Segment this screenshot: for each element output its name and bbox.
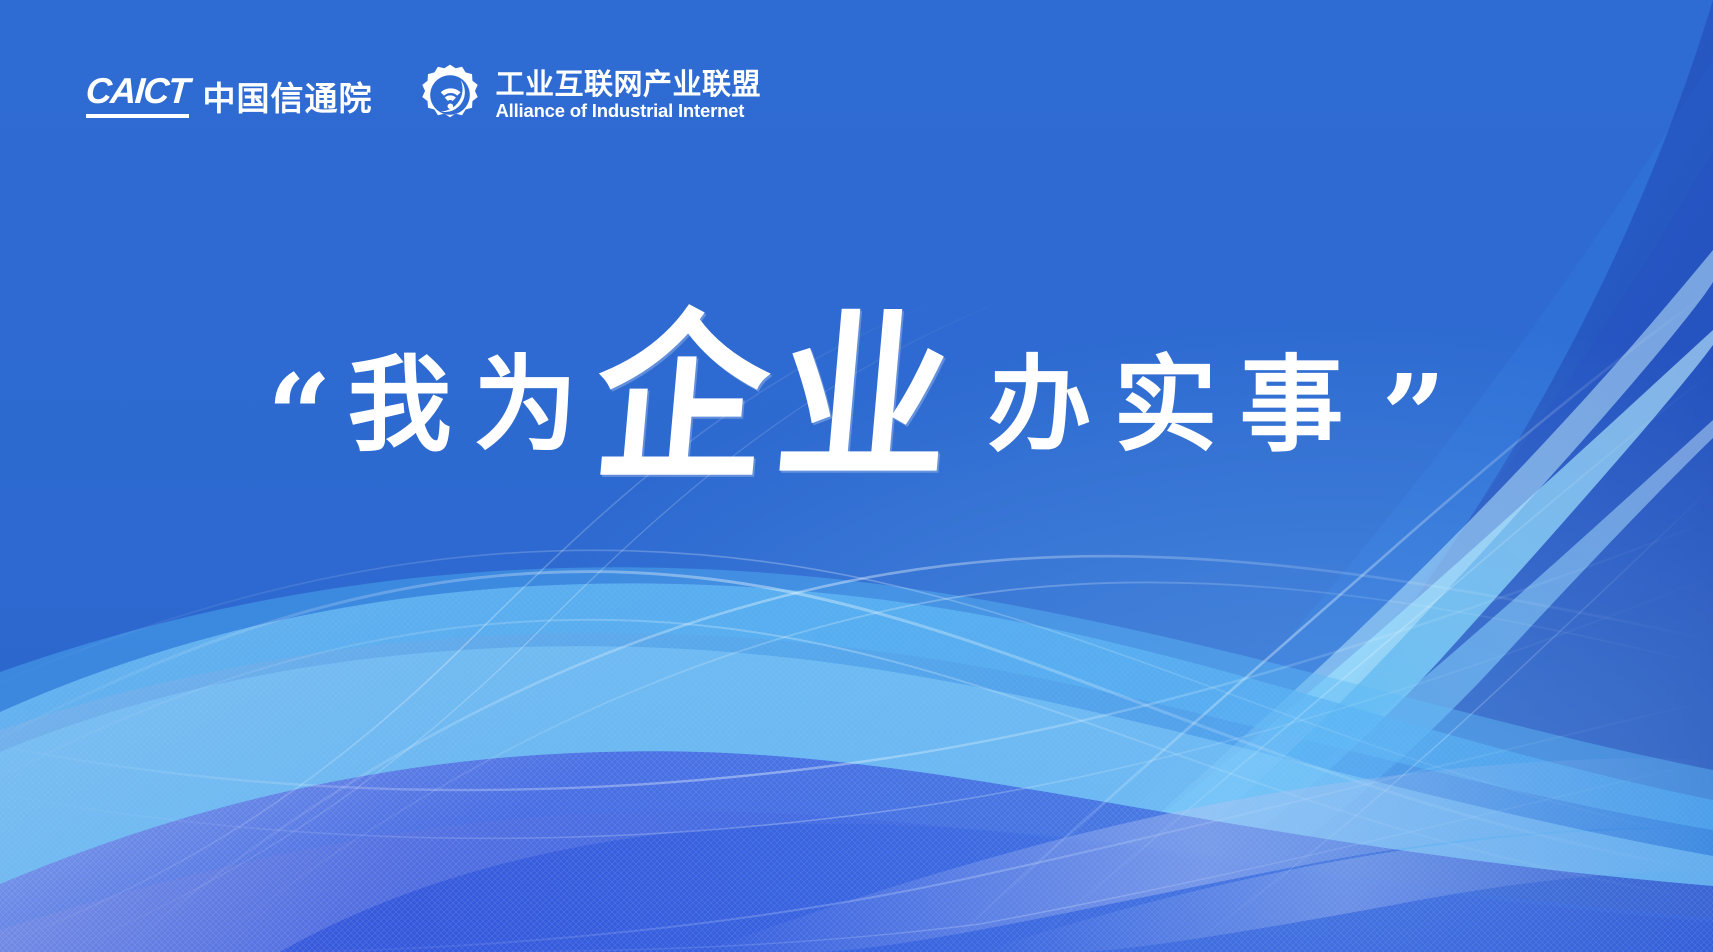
aii-chinese-name: 工业互联网产业联盟 bbox=[496, 70, 762, 99]
caict-chinese-name: 中国信通院 bbox=[203, 82, 373, 118]
aii-text-block: 工业互联网产业联盟 Alliance of Industrial Interne… bbox=[496, 70, 762, 121]
aii-logo: 工业互联网产业联盟 Alliance of Industrial Interne… bbox=[417, 62, 762, 128]
logo-bar: CAICT 中国信通院 工业互联网产业联盟 Alliance of Indust… bbox=[86, 62, 761, 128]
poster-canvas: CAICT 中国信通院 工业互联网产业联盟 Alliance of Indust… bbox=[0, 0, 1713, 952]
caict-abbreviation: CAICT bbox=[85, 73, 190, 109]
gear-wifi-icon bbox=[417, 62, 483, 128]
aii-english-name: Alliance of Industrial Internet bbox=[496, 102, 762, 121]
caict-underline bbox=[86, 114, 189, 118]
caict-wordmark: CAICT bbox=[86, 73, 189, 118]
caict-logo: CAICT 中国信通院 bbox=[86, 73, 373, 118]
background-wave-art bbox=[0, 0, 1713, 952]
